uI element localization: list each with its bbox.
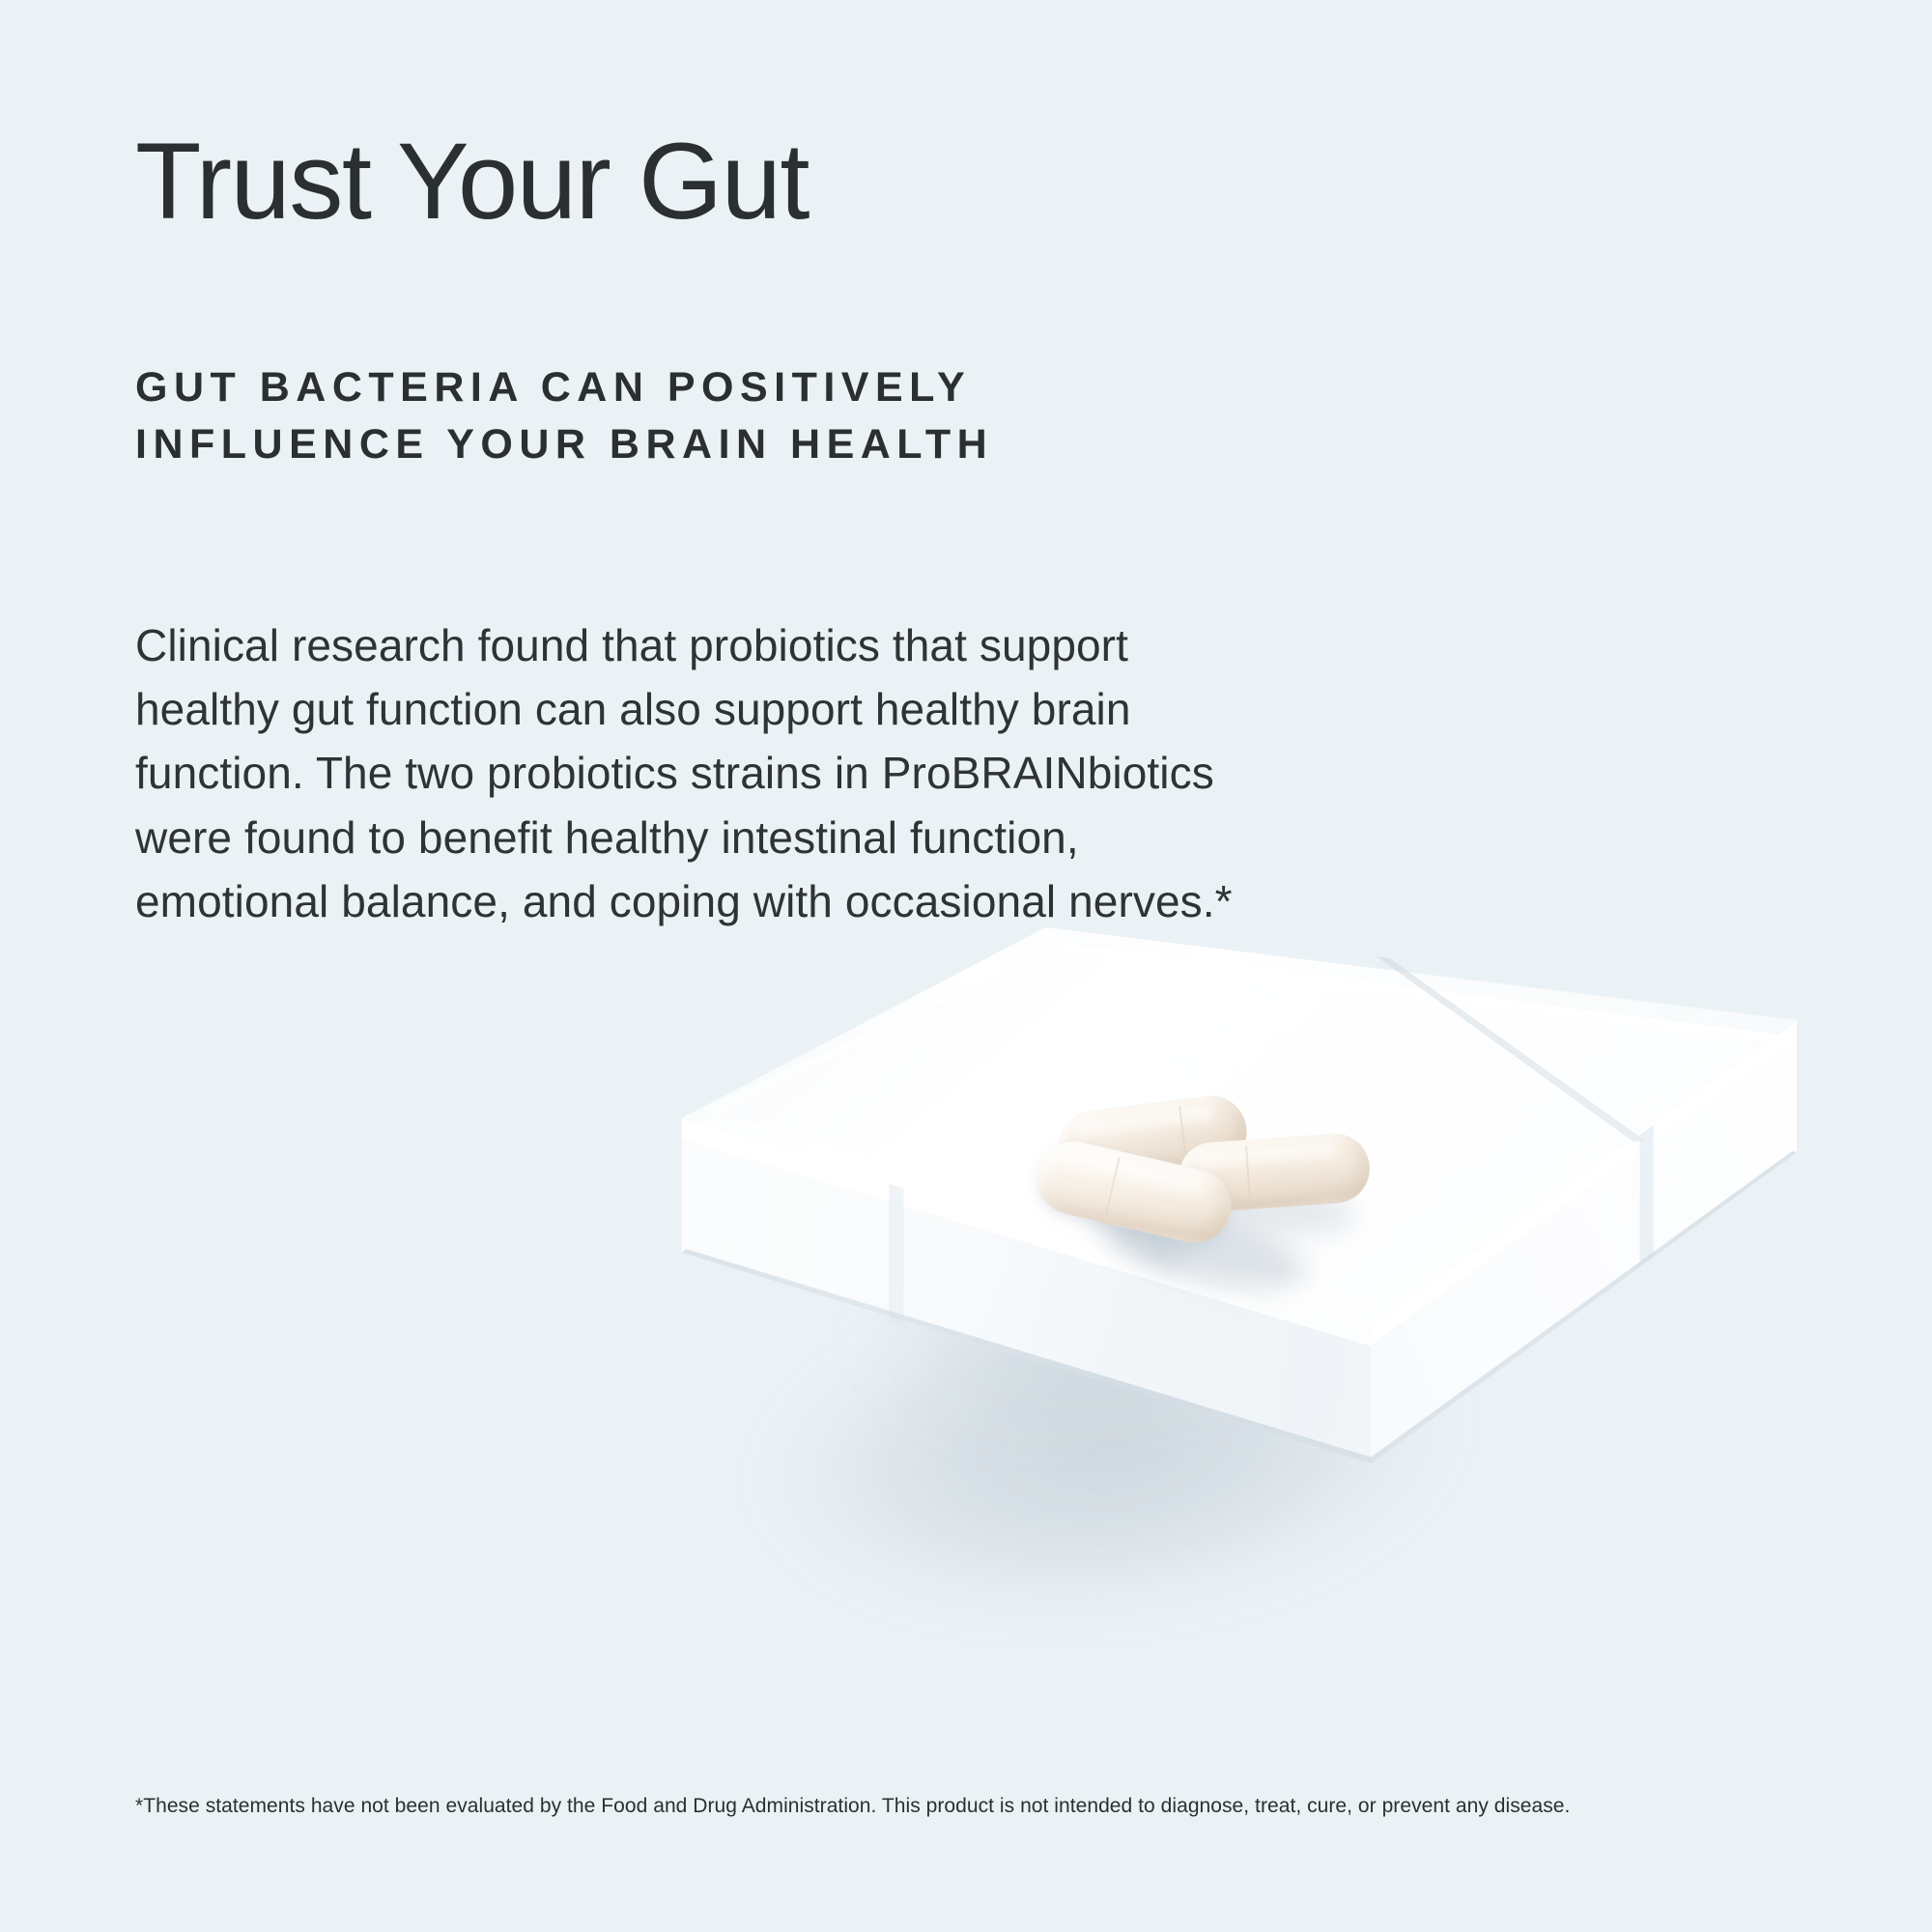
acrylic-tray xyxy=(676,927,1835,1700)
product-image xyxy=(676,927,1835,1700)
fda-disclaimer: *These statements have not been evaluate… xyxy=(135,1792,1797,1821)
subheading: GUT BACTERIA CAN POSITIVELY INFLUENCE YO… xyxy=(135,359,1488,474)
capsule-group xyxy=(676,927,1797,1381)
page-title: Trust Your Gut xyxy=(135,128,809,236)
subheading-line-1: GUT BACTERIA CAN POSITIVELY xyxy=(135,359,1488,416)
subheading-line-2: INFLUENCE YOUR BRAIN HEALTH xyxy=(135,416,1488,473)
body-copy: Clinical research found that probiotics … xyxy=(135,613,1275,933)
